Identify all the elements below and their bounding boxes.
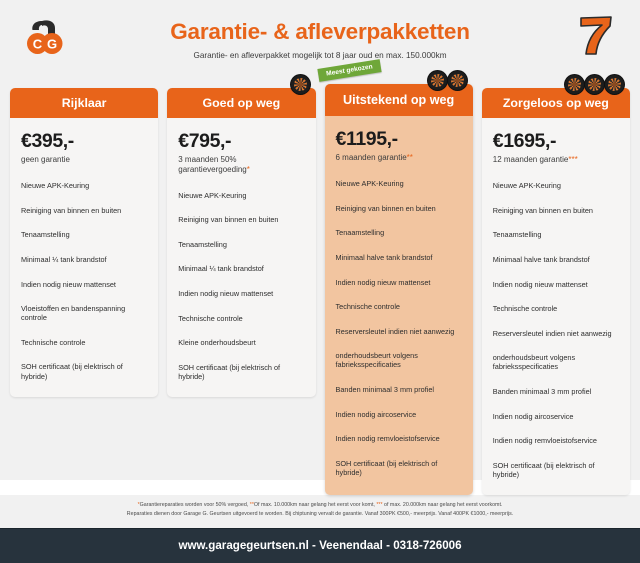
poster-header: C G Garantie- & afleverpakketten Garanti… — [0, 0, 640, 72]
feature-item: Vloeistoffen en bandenspanning controle — [21, 304, 147, 322]
package-cards: Rijklaar€395,-geen garantieNieuwe APK-Ke… — [0, 72, 640, 495]
package-body: €395,-geen garantieNieuwe APK-KeuringRei… — [10, 118, 158, 397]
tire-icon — [291, 75, 310, 94]
package-body: €795,-3 maanden 50% garantievergoeding*N… — [167, 118, 315, 397]
package-body: €1195,-6 maanden garantie**Nieuwe APK-Ke… — [325, 116, 473, 495]
package-price: €1195,- — [336, 129, 462, 149]
tire-icon — [448, 71, 467, 90]
feature-item: Reiniging van binnen en buiten — [21, 206, 147, 215]
feature-item: Tenaamstelling — [21, 230, 147, 239]
asterisk-mark: * — [247, 165, 250, 174]
contact-bar-text: www.garagegeurtsen.nl - Veenendaal - 031… — [178, 539, 461, 552]
tire-rating — [565, 75, 624, 94]
feature-item: Indien nodig nieuw mattenset — [493, 280, 619, 289]
feature-item: Minimaal ¼ tank brandstof — [178, 264, 304, 273]
feature-item: Nieuwe APK-Keuring — [21, 181, 147, 190]
package-price-note: geen garantie — [21, 155, 147, 165]
package-price: €395,- — [21, 131, 147, 151]
promo-poster: C G Garantie- & afleverpakketten Garanti… — [0, 0, 640, 480]
feature-item: Nieuwe APK-Keuring — [493, 181, 619, 190]
feature-item: Indien nodig nieuw mattenset — [336, 278, 462, 287]
feature-item: Technische controle — [493, 304, 619, 313]
feature-item: Indien nodig aircoservice — [336, 410, 462, 419]
package-card[interactable]: Meest gekozenUitstekend op weg€1195,-6 m… — [325, 84, 473, 495]
feature-item: Reiniging van binnen en buiten — [493, 206, 619, 215]
tire-rating — [428, 71, 467, 90]
contact-bar[interactable]: www.garagegeurtsen.nl - Veenendaal - 031… — [0, 528, 640, 563]
tire-icon — [565, 75, 584, 94]
asterisk-mark: *** — [568, 155, 577, 164]
feature-item: Indien nodig remvloeistofservice — [493, 436, 619, 445]
feature-item: Reiniging van binnen en buiten — [336, 204, 462, 213]
feature-item: Indien nodig nieuw mattenset — [21, 280, 147, 289]
footnote-line-2: Reparaties dienen door Garage G. Geurtse… — [40, 510, 600, 519]
package-card[interactable]: Rijklaar€395,-geen garantieNieuwe APK-Ke… — [10, 88, 158, 397]
feature-item: Technische controle — [21, 338, 147, 347]
package-price-note: 3 maanden 50% garantievergoeding* — [178, 155, 304, 174]
feature-item: Tenaamstelling — [336, 228, 462, 237]
feature-item: Indien nodig remvloeistofservice — [336, 434, 462, 443]
feature-item: Minimaal ¼ tank brandstof — [21, 255, 147, 264]
feature-item: onderhoudsbeurt volgens fabrieksspecific… — [336, 351, 462, 369]
footnote: *Garantiereparaties worden voor 50% verg… — [0, 495, 640, 527]
feature-item: Banden minimaal 3 mm profiel — [493, 387, 619, 396]
footnote-line-1: *Garantiereparaties worden voor 50% verg… — [40, 501, 600, 510]
tire-icon — [428, 71, 447, 90]
feature-item: Indien nodig aircoservice — [493, 412, 619, 421]
feature-item: SOH certificaat (bij elektrisch of hybri… — [21, 362, 147, 380]
tire-icon — [605, 75, 624, 94]
feature-item: Tenaamstelling — [493, 230, 619, 239]
feature-item: SOH certificaat (bij elektrisch of hybri… — [178, 363, 304, 381]
asterisk-mark: ** — [250, 502, 254, 508]
feature-item: Reserversleutel indien niet aanwezig — [493, 329, 619, 338]
feature-item: Minimaal halve tank brandstof — [336, 253, 462, 262]
feature-item: SOH certificaat (bij elektrisch of hybri… — [336, 459, 462, 477]
asterisk-mark: ** — [407, 153, 413, 162]
tire-icon — [585, 75, 604, 94]
page-title: Garantie- & afleverpakketten — [0, 19, 640, 45]
package-price-note: 6 maanden garantie** — [336, 153, 462, 163]
feature-item: Tenaamstelling — [178, 240, 304, 249]
feature-item: Minimaal halve tank brandstof — [493, 255, 619, 264]
feature-item: Nieuwe APK-Keuring — [178, 191, 304, 200]
package-card[interactable]: Goed op weg€795,-3 maanden 50% garantiev… — [167, 88, 315, 397]
page-subtitle: Garantie- en afleverpakket mogelijk tot … — [0, 51, 640, 60]
package-price-note: 12 maanden garantie*** — [493, 155, 619, 165]
feature-item: SOH certificaat (bij elektrisch of hybri… — [493, 461, 619, 479]
package-price: €1695,- — [493, 131, 619, 151]
package-card[interactable]: Zorgeloos op weg€1695,-12 maanden garant… — [482, 88, 630, 495]
tire-rating — [291, 75, 310, 94]
feature-item: Nieuwe APK-Keuring — [336, 179, 462, 188]
feature-item: Reiniging van binnen en buiten — [178, 215, 304, 224]
feature-item: Technische controle — [336, 302, 462, 311]
asterisk-mark: *** — [376, 502, 382, 508]
feature-item: onderhoudsbeurt volgens fabrieksspecific… — [493, 353, 619, 371]
feature-item: Technische controle — [178, 314, 304, 323]
feature-item: Indien nodig nieuw mattenset — [178, 289, 304, 298]
package-price: €795,- — [178, 131, 304, 151]
feature-item: Reserversleutel indien niet aanwezig — [336, 327, 462, 336]
feature-item: Banden minimaal 3 mm profiel — [336, 385, 462, 394]
asterisk-mark: * — [138, 502, 140, 508]
package-body: €1695,-12 maanden garantie***Nieuwe APK-… — [482, 118, 630, 495]
package-title: Rijklaar — [10, 88, 158, 118]
feature-item: Kleine onderhoudsbeurt — [178, 338, 304, 347]
